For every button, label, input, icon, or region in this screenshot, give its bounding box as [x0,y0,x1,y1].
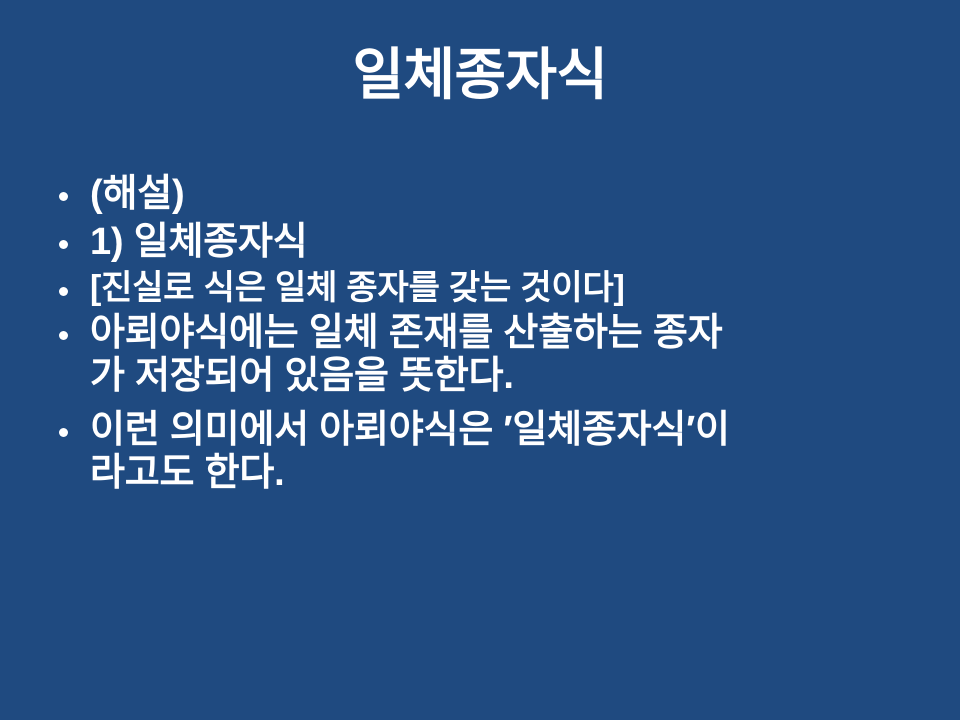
list-item-line-continued: 가 저장되어 있음을 뜻한다. [90,354,932,399]
list-item-line: 1) 일체종자식 [90,220,932,265]
list-item: [진실로 식은 일체 종자를 갖는 것이다] [52,268,932,309]
list-item: 아뢰야식에는 일체 존재를 산출하는 종자 가 저장되어 있음을 뜻한다. [52,311,932,399]
list-item: 1) 일체종자식 [52,220,932,265]
page-title: 일체종자식 [0,44,960,107]
bullet-dot-icon [59,192,68,201]
list-item-line: [진실로 식은 일체 종자를 갖는 것이다] [90,268,932,309]
slide-canvas: 일체종자식 (해설) 1) 일체종자식 [진실로 식은 일체 종자를 갖는 것이… [0,0,960,720]
bullet-dot-icon [59,428,68,437]
list-item-line-continued: 라고도 한다. [90,451,932,496]
list-item-line: 이런 의미에서 아뢰야식은 ′일체종자식′이 [90,408,932,453]
list-item: 이런 의미에서 아뢰야식은 ′일체종자식′이 라고도 한다. [52,408,932,496]
bullet-dot-icon [59,240,68,249]
list-item-line: 아뢰야식에는 일체 존재를 산출하는 종자 [90,311,932,356]
list-item-line: (해설) [90,172,932,217]
list-item: (해설) [52,172,932,217]
bullet-dot-icon [59,287,68,296]
bullet-dot-icon [59,331,68,340]
bullet-list: (해설) 1) 일체종자식 [진실로 식은 일체 종자를 갖는 것이다] 아뢰야… [52,172,932,499]
